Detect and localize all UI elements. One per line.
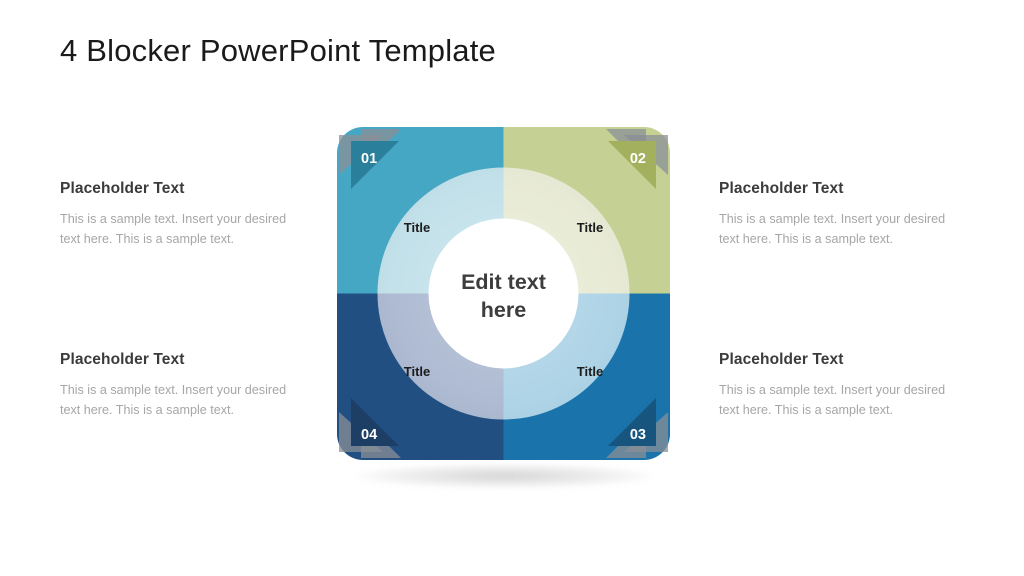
text-block-heading: Placeholder Text (719, 180, 964, 198)
text-block-bottom-left[interactable]: Placeholder Text This is a sample text. … (60, 351, 305, 420)
text-block-top-left[interactable]: Placeholder Text This is a sample text. … (60, 180, 305, 249)
badge-number-02: 02 (630, 151, 646, 167)
text-block-bottom-right[interactable]: Placeholder Text This is a sample text. … (719, 351, 964, 420)
badge-number-03: 03 (630, 427, 646, 443)
center-label-line1: Edit text (461, 270, 546, 294)
text-block-body: This is a sample text. Insert your desir… (60, 381, 305, 420)
ring-title-04: Title (404, 364, 431, 379)
text-block-heading: Placeholder Text (719, 351, 964, 369)
page-title: 4 Blocker PowerPoint Template (60, 33, 496, 69)
text-block-heading: Placeholder Text (60, 180, 305, 198)
text-block-heading: Placeholder Text (60, 351, 305, 369)
four-blocker-diagram[interactable]: Edit text here Title Title Title Title 0… (337, 127, 670, 460)
center-label-line2: here (481, 298, 526, 322)
text-block-body: This is a sample text. Insert your desir… (719, 210, 964, 249)
diagram-drop-shadow (358, 464, 650, 488)
badge-number-04: 04 (361, 427, 377, 443)
text-block-top-right[interactable]: Placeholder Text This is a sample text. … (719, 180, 964, 249)
ring-title-01: Title (404, 220, 431, 235)
text-block-body: This is a sample text. Insert your desir… (60, 210, 305, 249)
badge-number-01: 01 (361, 151, 377, 167)
ring-title-02: Title (577, 220, 604, 235)
ring-title-03: Title (577, 364, 604, 379)
text-block-body: This is a sample text. Insert your desir… (719, 381, 964, 420)
